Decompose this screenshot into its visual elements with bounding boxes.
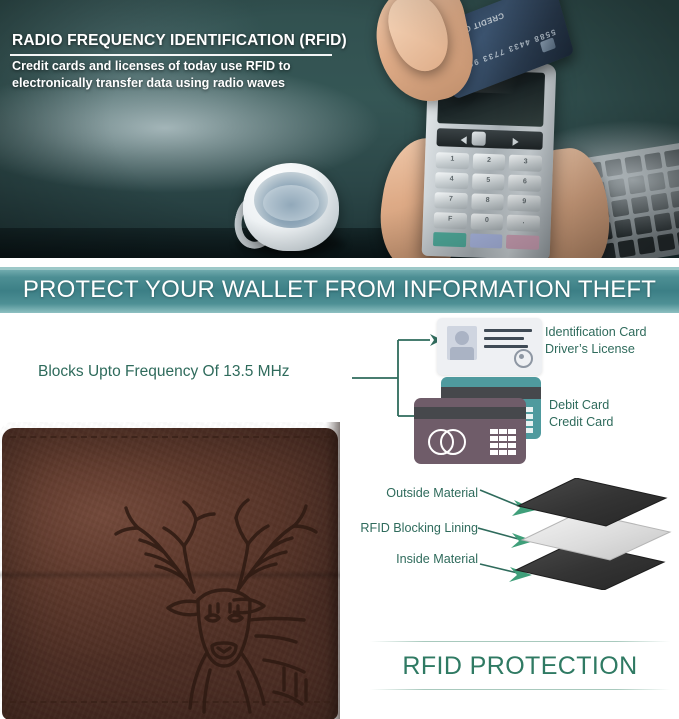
banner-subtitle: Credit cards and licenses of today use R… bbox=[12, 58, 342, 92]
identification-card-graphic bbox=[437, 318, 542, 375]
layer-label-lining: RFID Blocking Lining bbox=[310, 520, 478, 536]
footer-rule-top bbox=[370, 641, 670, 642]
debit-credit-card-label: Debit Card Credit Card bbox=[549, 397, 613, 430]
card-logo-circle-icon bbox=[440, 429, 466, 455]
layer-label-outside: Outside Material bbox=[330, 485, 478, 501]
banner-title: RADIO FREQUENCY IDENTIFICATION (RFID) bbox=[12, 32, 347, 50]
headline-band-text: PROTECT YOUR WALLET FROM INFORMATION THE… bbox=[0, 271, 679, 309]
infographic-root: 1 2 3 4 5 6 7 8 9 F 0 . CREDIT CARD 5588… bbox=[0, 0, 679, 719]
hero-photo: 1 2 3 4 5 6 7 8 9 F 0 . CREDIT CARD 5588… bbox=[0, 0, 679, 258]
deer-emboss-icon bbox=[98, 460, 328, 715]
credit-card-graphic bbox=[414, 398, 526, 464]
layer-label-inside: Inside Material bbox=[330, 551, 478, 567]
identification-card-label: Identification Card Driver’s License bbox=[545, 324, 647, 357]
frequency-callout: Blocks Upto Frequency Of 13.5 MHz bbox=[38, 363, 290, 382]
debit-label-line-2: Credit Card bbox=[549, 414, 613, 431]
banner-title-underline bbox=[10, 54, 332, 56]
debit-label-line-1: Debit Card bbox=[549, 397, 613, 414]
id-photo-placeholder bbox=[447, 326, 477, 360]
leather-wallet-product-image bbox=[0, 422, 340, 719]
id-label-line-2: Driver’s License bbox=[545, 341, 647, 358]
headline-band-top-edge bbox=[0, 267, 679, 270]
wallet-edge-shadow bbox=[326, 422, 340, 719]
wallet-stitching-top bbox=[10, 436, 330, 438]
id-label-line-1: Identification Card bbox=[545, 324, 647, 341]
footer-headline: RFID PROTECTION bbox=[370, 647, 670, 685]
rfid-protection-footer: RFID PROTECTION bbox=[370, 641, 670, 697]
footer-rule-bottom bbox=[370, 689, 670, 690]
material-layers-diagram bbox=[508, 478, 679, 590]
magnetic-stripe bbox=[414, 407, 526, 419]
card-chip-grid-icon bbox=[490, 429, 516, 455]
id-seal-icon bbox=[514, 349, 533, 368]
